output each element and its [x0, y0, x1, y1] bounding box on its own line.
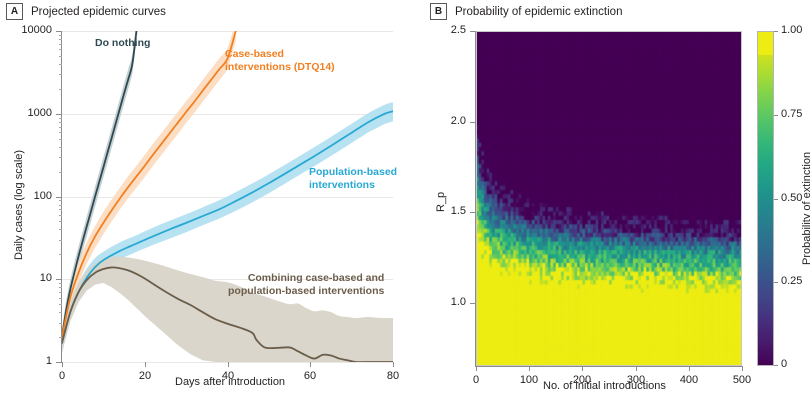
- panel-a-curves: [62, 31, 393, 362]
- panel-a-x-tick: [310, 362, 311, 367]
- panel-a-x-axis-title: Days after introduction: [175, 376, 285, 388]
- panel-b-x-tick: [636, 366, 637, 371]
- colorbar-tick: [774, 365, 778, 366]
- panel-a-title: Projected epidemic curves: [31, 6, 166, 18]
- annotation-do-nothing: Do nothing: [95, 37, 150, 50]
- annotation-population-based: Population-based interventions: [309, 166, 397, 192]
- panel-a-x-tick: [145, 362, 146, 367]
- panel-a-plot-area: [62, 31, 393, 362]
- panel-b-x-tick: [689, 366, 690, 371]
- panel-b-y-tick-label: 2.0: [428, 115, 466, 127]
- panel-a-y-tick-label: 1000: [0, 107, 52, 119]
- colorbar-tick: [774, 282, 778, 283]
- colorbar-title: Probability of extinction: [801, 152, 810, 265]
- panel-b-x-tick: [742, 366, 743, 371]
- panel-a-y-axis-title: Daily cases (log scale): [13, 150, 25, 260]
- panel-b-x-tick: [582, 366, 583, 371]
- colorbar-tick: [774, 31, 778, 32]
- panel-a-x-tick-label: 20: [125, 370, 165, 382]
- annotation-combined-line2: population-based interventions: [228, 285, 384, 298]
- colorbar-tick-label: 0.75: [781, 108, 802, 120]
- annotation-combined: Combining case-based and population-base…: [228, 272, 384, 298]
- colorbar-tick-label: 1.00: [781, 24, 802, 36]
- annotation-population-based-line2: interventions: [309, 179, 397, 192]
- colorbar-tick-label: 0.25: [781, 275, 802, 287]
- colorbar-tick-label: 0.50: [781, 192, 802, 204]
- annotation-case-based: Case-based interventions (DTQ14): [225, 48, 335, 74]
- panel-a-x-tick-label: 0: [42, 370, 82, 382]
- panel-b-x-tick-label: 400: [667, 374, 711, 386]
- colorbar-tick-label: 0: [781, 358, 787, 370]
- panel-a-x-tick: [228, 362, 229, 367]
- colorbar-tick: [774, 199, 778, 200]
- colorbar: [757, 31, 774, 366]
- annotation-population-based-line1: Population-based: [309, 166, 397, 179]
- annotation-case-based-line2: interventions (DTQ14): [225, 61, 335, 74]
- panel-b-x-tick: [529, 366, 530, 371]
- panel-b-heatmap: [476, 31, 742, 366]
- panel-b-y-tick-label: 1.0: [428, 296, 466, 308]
- panel-b-x-axis-title: No. of initial introductions: [543, 380, 666, 392]
- annotation-do-nothing-line1: Do nothing: [95, 37, 150, 49]
- panel-a-x-tick: [393, 362, 394, 367]
- panel-b-badge: B: [430, 3, 447, 20]
- panel-b-x-tick: [476, 366, 477, 371]
- panel-b-x-axis-line: [475, 366, 743, 367]
- panel-b-title: Probability of epidemic extinction: [455, 6, 622, 18]
- colorbar-tick: [774, 115, 778, 116]
- panel-a-y-tick-label: 100: [0, 190, 52, 202]
- panel-a-x-tick-label: 60: [290, 370, 330, 382]
- panel-a-x-tick: [62, 362, 63, 367]
- panel-a-y-tick-label: 10: [0, 272, 52, 284]
- annotation-case-based-line1: Case-based: [225, 48, 335, 61]
- panel-b-header: B Probability of epidemic extinction: [430, 3, 622, 20]
- panel-a-y-tick-label: 1: [0, 355, 52, 367]
- heatmap-canvas: [476, 31, 742, 366]
- panel-a-x-tick-label: 80: [373, 370, 413, 382]
- panel-b-y-tick-label: 1.5: [428, 205, 466, 217]
- figure-root: A Projected epidemic curves Daily cases …: [0, 0, 810, 402]
- panel-b-x-tick-label: 500: [720, 374, 764, 386]
- panel-b-y-tick-label: 2.5: [428, 24, 466, 36]
- colorbar-canvas: [757, 31, 774, 366]
- panel-a-y-tick-label: 10000: [0, 24, 52, 36]
- panel-a-badge: A: [6, 3, 23, 20]
- panel-a-header: A Projected epidemic curves: [6, 3, 166, 20]
- panel-b-x-tick-label: 0: [454, 374, 498, 386]
- annotation-combined-line1: Combining case-based and: [228, 272, 384, 285]
